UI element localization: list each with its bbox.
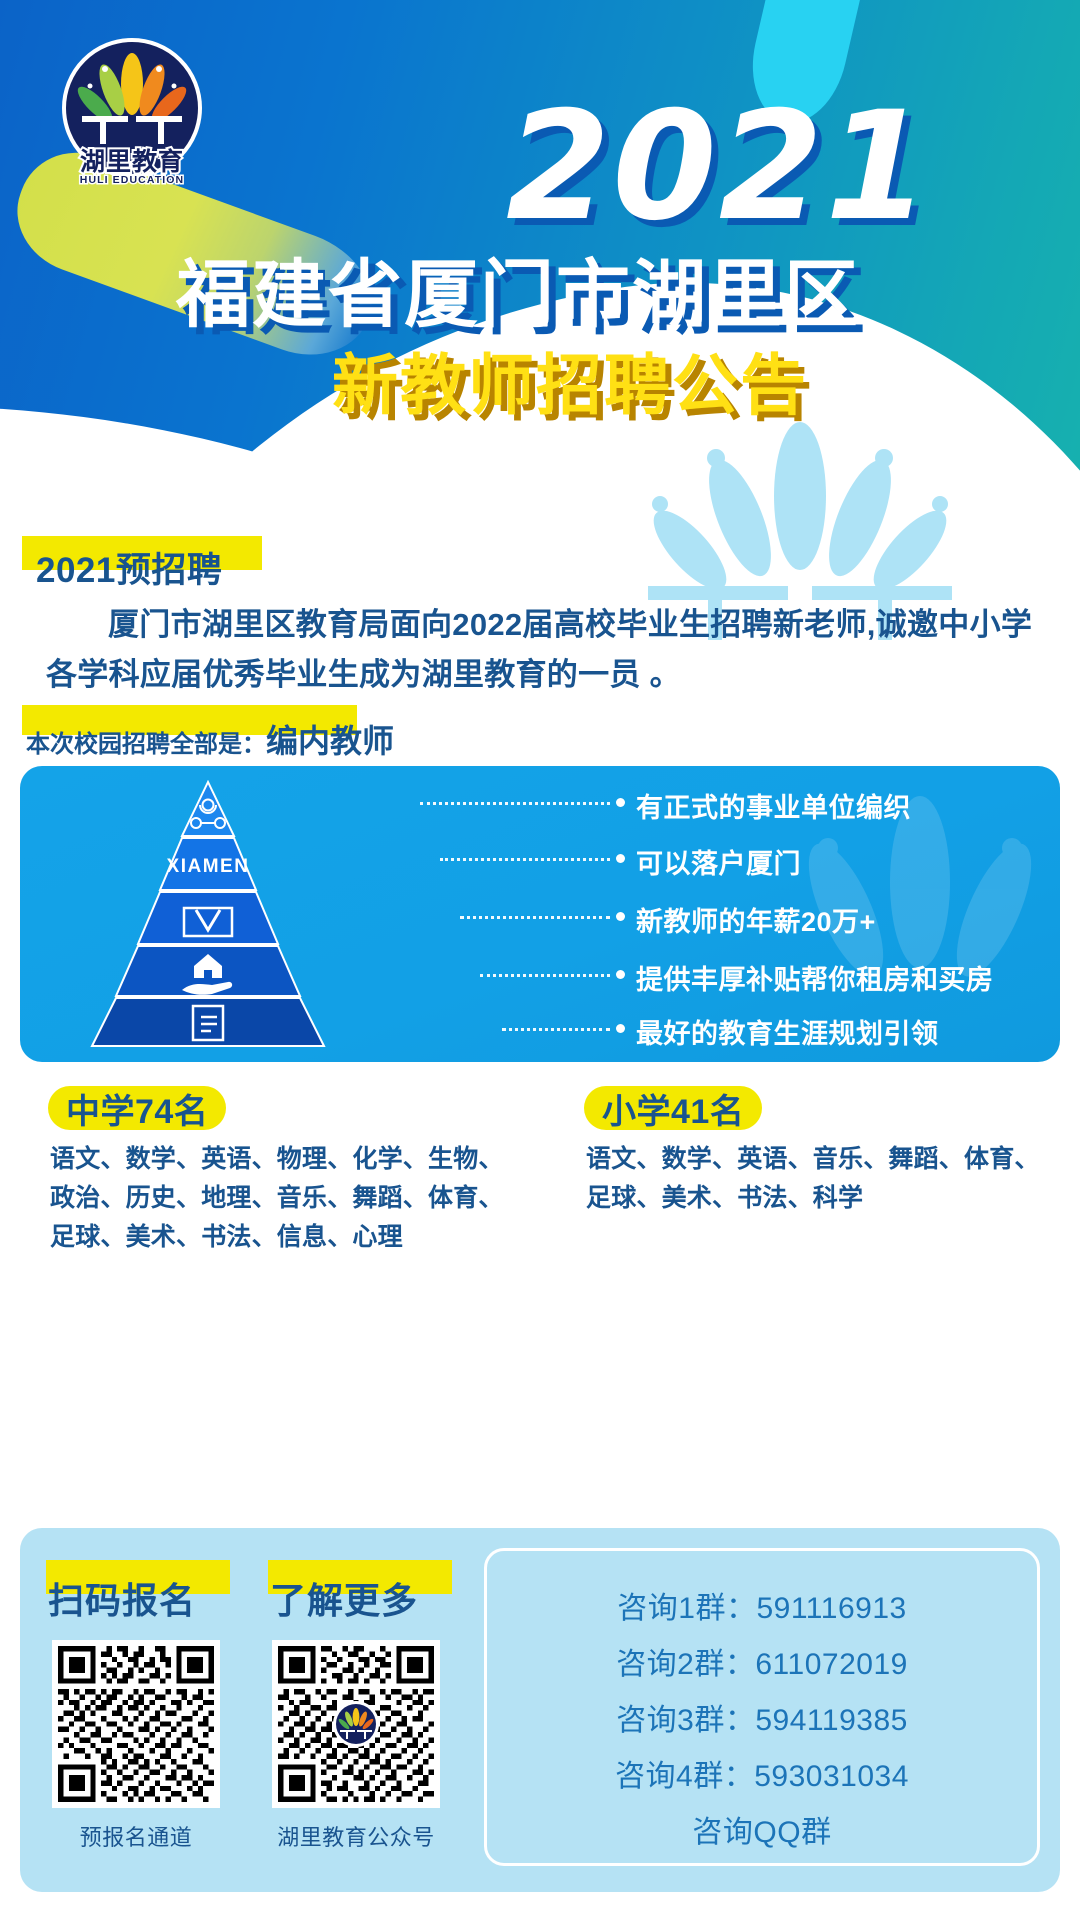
- qq-group-row[interactable]: 咨询1群：591116913: [487, 1583, 1037, 1627]
- qq-group-row[interactable]: 咨询4群：593031034: [487, 1751, 1037, 1795]
- pyramid-xiamen-label: XIAMEN: [78, 856, 338, 878]
- official-account-qr-caption: 湖里教育公众号: [262, 1820, 450, 1852]
- qq-group-number: 594119385: [755, 1704, 907, 1737]
- salary-envelope-icon: [182, 906, 234, 938]
- qq-group-number: 611072019: [755, 1648, 907, 1681]
- primary-school-count-tag: 小学41名: [584, 1086, 762, 1130]
- pre-recruit-tag: 2021预招聘: [36, 542, 222, 593]
- middle-school-subject-line: 足球、美术、书法、信息、心理: [50, 1218, 504, 1257]
- signup-qr-code[interactable]: [52, 1640, 220, 1808]
- poster-year: 2021: [506, 92, 931, 242]
- org-chart-icon: [188, 798, 228, 832]
- benefits-panel: XIAMEN 有正式的事业单位编织 可以落户厦门 新教师的年薪20万+ 提供丰厚…: [20, 766, 1060, 1062]
- middle-school-count-label: 中学74名: [66, 1084, 208, 1133]
- primary-school-subject-line: 语文、数学、英语、音乐、舞蹈、体育、: [586, 1140, 1040, 1179]
- connector-dots-4: [480, 974, 610, 977]
- more-info-tag-label: 了解更多: [270, 1572, 418, 1624]
- connector-dots-5: [502, 1028, 610, 1031]
- intro-paragraph: 厦门市湖里区教育局面向2022届高校毕业生招聘新老师,诚邀中小学各学科应届优秀毕…: [46, 600, 1036, 700]
- staffed-note-highlight-text: 编内教师: [266, 723, 394, 759]
- logo-english-name: HULI EDUCATION: [67, 174, 197, 186]
- qr-embedded-logo-icon: [332, 1700, 380, 1748]
- benefit-label-5: 最好的教育生涯规划引领: [636, 1012, 939, 1051]
- signup-qr-matrix: [58, 1646, 214, 1802]
- qq-group-number: 593031034: [754, 1760, 909, 1793]
- benefit-label-1: 有正式的事业单位编织: [636, 786, 911, 825]
- benefit-label-2: 可以落户厦门: [636, 842, 801, 881]
- poster-title-line2: 新教师招聘公告: [332, 352, 808, 418]
- connector-dots-1: [420, 802, 610, 805]
- middle-school-subject-list: 语文、数学、英语、物理、化学、生物、 政治、历史、地理、音乐、舞蹈、体育、 足球…: [50, 1140, 504, 1256]
- benefit-bullet-4: [616, 970, 625, 979]
- benefits-pyramid: XIAMEN: [78, 780, 338, 1048]
- primary-school-count-label: 小学41名: [602, 1084, 744, 1133]
- document-icon: [190, 1004, 226, 1042]
- benefit-bullet-5: [616, 1024, 625, 1033]
- qq-group-row[interactable]: 咨询3群：594119385: [487, 1695, 1037, 1739]
- logo-chinese-name: 湖里教育: [67, 142, 197, 178]
- qq-group-label: 咨询3群：: [616, 1704, 755, 1737]
- qq-group-row[interactable]: 咨询2群：611072019: [487, 1639, 1037, 1683]
- huli-education-logo: 湖里教育 HULI EDUCATION: [62, 38, 202, 208]
- benefit-bullet-1: [616, 798, 625, 807]
- primary-school-subject-line: 足球、美术、书法、科学: [586, 1179, 1040, 1218]
- primary-school-subject-list: 语文、数学、英语、音乐、舞蹈、体育、 足球、美术、书法、科学: [586, 1140, 1040, 1218]
- middle-school-count-tag: 中学74名: [48, 1086, 226, 1130]
- official-account-qr-code[interactable]: [272, 1640, 440, 1808]
- staffed-note-prefix: 本次校园招聘全部是：: [26, 731, 266, 758]
- middle-school-subject-line: 政治、历史、地理、音乐、舞蹈、体育、: [50, 1179, 504, 1218]
- connector-dots-3: [460, 916, 610, 919]
- qq-groups-footer: 咨询QQ群: [487, 1807, 1037, 1851]
- qq-group-label: 咨询4群：: [615, 1760, 754, 1793]
- poster-title-line1: 福建省厦门市湖里区: [176, 258, 860, 332]
- benefit-bullet-2: [616, 854, 625, 863]
- benefit-bullet-3: [616, 912, 625, 921]
- benefit-label-4: 提供丰厚补贴帮你租房和买房: [636, 958, 994, 997]
- qq-groups-box: 咨询1群：591116913 咨询2群：611072019 咨询3群：59411…: [484, 1548, 1040, 1866]
- signup-tag-label: 扫码报名: [48, 1572, 196, 1624]
- benefit-label-3: 新教师的年薪20万+: [636, 900, 876, 939]
- connector-dots-2: [440, 858, 610, 861]
- staffed-note: 本次校园招聘全部是：编内教师: [26, 716, 394, 762]
- qq-group-label: 咨询1群：: [617, 1592, 756, 1625]
- hand-house-icon: [178, 952, 238, 996]
- signup-qr-caption: 预报名通道: [52, 1820, 220, 1852]
- middle-school-subject-line: 语文、数学、英语、物理、化学、生物、: [50, 1140, 504, 1179]
- qq-group-label: 咨询2群：: [616, 1648, 755, 1681]
- qq-group-number: 591116913: [756, 1592, 906, 1625]
